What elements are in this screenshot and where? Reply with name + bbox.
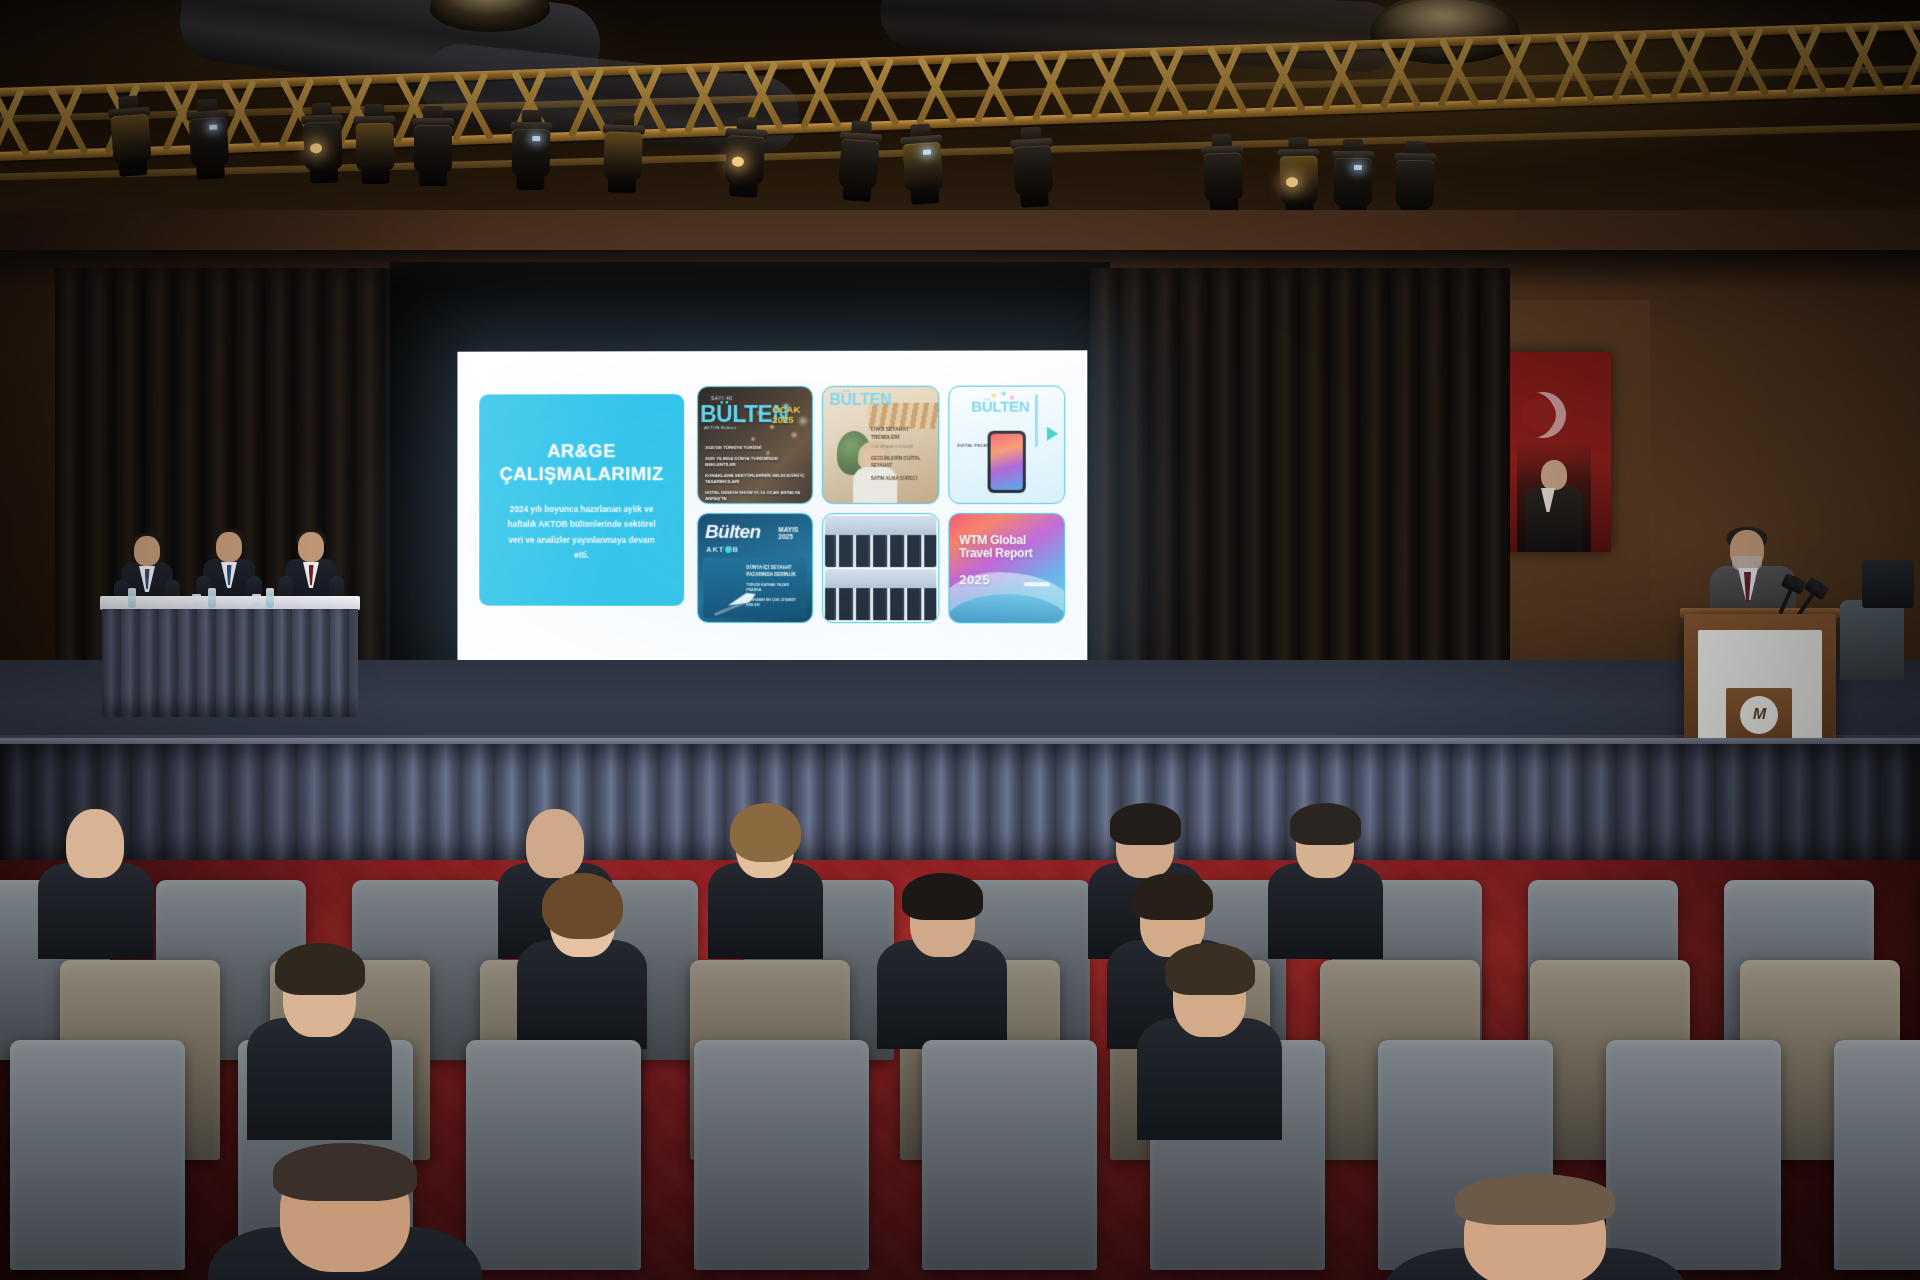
bulletin-card-ocak: SAYI 40 BÜLTEN AKTOB Bülteni OCAK 2025 2… [697,386,813,504]
card-masthead: BÜLTEN [971,399,1029,416]
audience-member [1140,950,1279,1136]
table-skirt [102,609,358,717]
panel-table [100,596,360,718]
water-bottle [128,588,136,608]
audience-chair [694,1040,869,1270]
smartphone-photo [987,431,1025,493]
stage-light [1199,133,1248,221]
audience-member [520,879,645,1045]
bulletin-card-grid: SAYI 40 BÜLTEN AKTOB Bülteni OCAK 2025 2… [697,385,1065,640]
dash-decor [1023,582,1049,586]
water-glass [192,594,201,607]
stage-light [410,106,456,192]
stage-light [351,104,398,191]
bulletin-card-luks-seyahat: BÜLTEN LÜKS SEYAHAT TRENDLERİ LÜKS SEYAH… [822,386,939,504]
slide-title: AR&GE ÇALIŞMALARIMIZ [500,440,664,485]
stage-light [1008,126,1058,214]
audience-member [1270,809,1380,956]
stage-light [184,97,234,185]
audience-member-foreground [1430,1180,1640,1280]
card-brand: AKTB [706,545,739,554]
card-subbrand: AKTOB Bülteni [704,425,736,430]
slide-title-line2: ÇALIŞMALARIMIZ [500,463,664,486]
card-headlines: DÜNYA İÇİ SEYAHAT PAZARINDA DERİNLİK TUR… [746,565,800,608]
stage-light [599,112,648,200]
slide-left-panel: AR&GE ÇALIŞMALARIMIZ 2024 yılı boyunca h… [479,394,684,606]
bulletin-card-group-photos [822,513,939,623]
venue-logo-icon: M [1740,696,1778,734]
audience-member-foreground [250,1150,440,1280]
bulletin-card-wtm-report: WTM Global Travel Report 2025 [948,513,1065,623]
water-bottle [208,588,216,608]
audience-member [710,809,820,956]
turkish-flag-portrait-banner [1493,352,1611,552]
arrow-icon [1047,427,1058,441]
stage-light [897,122,949,211]
stage-skirt-shading [0,744,1920,866]
stage-chair [1840,600,1904,680]
bar-decor [1035,395,1038,447]
panelist [282,532,340,606]
stage-monitor [1862,560,1914,608]
sea-photo: DÜNYA İÇİ SEYAHAT PAZARINDA DERİNLİK TUR… [703,558,807,618]
curtain-valance [0,250,1920,290]
group-photo [825,569,936,620]
table-top [100,596,360,610]
water-glass [252,594,261,607]
audience-member [880,879,1005,1045]
stage-light [833,120,885,209]
audience-member [40,809,150,956]
bulletin-card-mayis: Bülten AKTB MAYIS 2025 DÜNYA İÇİ SEYAHAT… [697,513,813,623]
portrait [1517,444,1591,552]
stage-light [507,109,554,196]
card-headlines: 2025'DE TÜRKİYE TURİZMİ 2025 YILINDA DÜN… [705,445,807,504]
audience-chair [1834,1040,1920,1270]
audience-member [250,950,389,1136]
card-headlines: LÜKS SEYAHAT TRENDLERİ LÜKS SEYAHAT EĞİL… [871,427,933,483]
stage-light [105,94,157,183]
crescent-star-icon [1509,392,1555,438]
slide-body-text: 2024 yılı boyunca hazırlanan aylık ve ha… [508,502,656,563]
slide-title-line1: AR&GE [500,440,664,463]
card-date: OCAK 2025 [772,406,800,426]
audience-chair [466,1040,641,1270]
audience-chair [922,1040,1097,1270]
bulletin-card-dijital: BÜLTEN DİJİTAL PAZARLAMA [948,385,1065,503]
audience-chair [10,1040,185,1270]
group-photo [825,516,936,567]
stage-light [299,102,348,190]
card-masthead: BÜLTEN [829,392,891,410]
card-masthead: Bülten [705,522,760,544]
stage-light [720,116,770,204]
wtm-title: WTM Global Travel Report [959,534,1056,561]
water-bottle [266,588,274,608]
conference-hall-photo: AR&GE ÇALIŞMALARIMIZ 2024 yılı boyunca h… [0,0,1920,1280]
wtm-year: 2025 [959,572,990,587]
projection-screen: AR&GE ÇALIŞMALARIMIZ 2024 yılı boyunca h… [457,350,1087,666]
card-date: MAYIS 2025 [778,527,798,542]
